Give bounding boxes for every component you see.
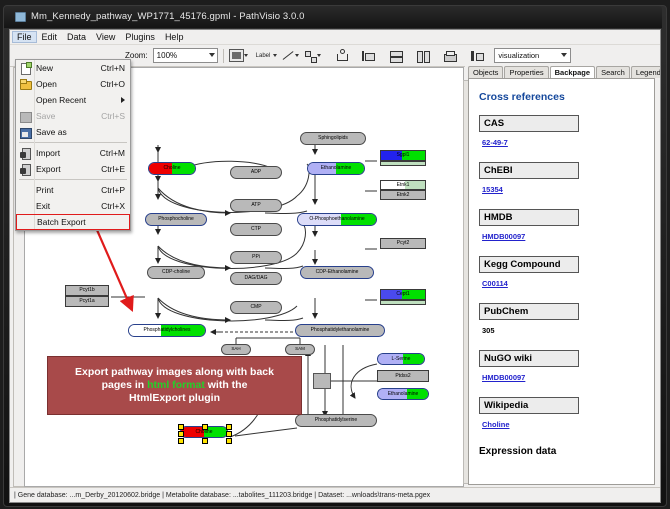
gene-label: Pcyt1a bbox=[79, 299, 94, 304]
node-ppi[interactable]: PPi bbox=[230, 251, 282, 264]
side-panel: Objects Properties Backpage Search Legen… bbox=[465, 63, 657, 487]
label-icon[interactable]: Label bbox=[253, 51, 274, 61]
xref-value-link[interactable]: Choline bbox=[482, 420, 510, 429]
node-label: Sphingolipids bbox=[318, 136, 348, 141]
align-vertical-icon[interactable] bbox=[416, 50, 429, 62]
chevron-down-icon[interactable] bbox=[295, 54, 299, 57]
tab-search[interactable]: Search bbox=[596, 66, 630, 79]
save-disabled-icon bbox=[18, 110, 33, 123]
datanode-tool-group[interactable] bbox=[229, 49, 248, 62]
gene-label: Cept1 bbox=[396, 292, 409, 297]
visualization-value: visualization bbox=[498, 51, 539, 60]
no-icon bbox=[18, 94, 33, 107]
selection-handle[interactable] bbox=[178, 424, 184, 430]
tab-objects[interactable]: Objects bbox=[468, 66, 503, 79]
selection-handle[interactable] bbox=[226, 431, 232, 437]
node-ethanolamine-top[interactable]: Ethanolamine bbox=[307, 162, 365, 175]
no-icon bbox=[18, 184, 33, 197]
node-sam[interactable]: SAM bbox=[285, 344, 315, 355]
tab-legend[interactable]: Legend bbox=[631, 66, 661, 79]
gene-label: Etnk1 bbox=[397, 183, 410, 188]
menu-item-batch-export[interactable]: Batch Export bbox=[16, 214, 130, 230]
node-label: CDP-choline bbox=[162, 270, 190, 275]
callout-line1: Export pathway images along with back bbox=[75, 366, 274, 378]
gene-label: Pcyt2 bbox=[397, 241, 410, 246]
gene-label: Sgpl1 bbox=[397, 153, 410, 158]
status-bar: | Gene database: ...m_Derby_20120602.bri… bbox=[10, 487, 660, 502]
node-label: Ethanolamine bbox=[321, 166, 352, 171]
save-as-icon bbox=[18, 126, 33, 139]
node-phosphatidylcholines[interactable]: Phosphatidylcholines bbox=[128, 324, 206, 337]
menu-item-open[interactable]: Open Ctrl+O bbox=[16, 76, 130, 92]
chevron-down-icon bbox=[209, 53, 215, 57]
menu-item-accel: Ctrl+O bbox=[100, 79, 130, 89]
gene-label: Etnk2 bbox=[397, 193, 410, 198]
gene-pcyt2[interactable]: Pcyt2 bbox=[380, 238, 426, 249]
callout-line2-b: with the bbox=[205, 379, 248, 391]
menu-item-label: New bbox=[36, 63, 101, 73]
xref-name: ChEBI bbox=[479, 162, 579, 179]
menu-item-label: Open Recent bbox=[36, 95, 130, 105]
menu-item-export[interactable]: Export Ctrl+E bbox=[16, 161, 130, 177]
gene-cept1-shadow bbox=[380, 300, 426, 305]
gene-cept1[interactable]: Cept1 bbox=[380, 289, 426, 300]
menu-item-open-recent[interactable]: Open Recent bbox=[16, 92, 130, 108]
node-label: DAG/DAG bbox=[244, 276, 267, 281]
node-label: CDP-Ethanolamine bbox=[316, 270, 359, 275]
node-label: PPi bbox=[252, 255, 260, 260]
menu-item-exit[interactable]: Exit Ctrl+X bbox=[16, 198, 130, 214]
menu-item-accel: Ctrl+S bbox=[101, 111, 130, 121]
xref-value-link[interactable]: C00114 bbox=[482, 279, 508, 288]
xref-name: HMDB bbox=[479, 209, 579, 226]
datanode-icon[interactable] bbox=[229, 49, 244, 62]
node-label: L-Serine bbox=[392, 357, 411, 362]
node-sphingolipids[interactable]: Sphingolipids bbox=[300, 132, 366, 145]
node-label: O-Phosphoethanolamine bbox=[309, 217, 364, 222]
node-cmp[interactable]: CMP bbox=[230, 301, 282, 314]
xref-name: NuGO wiki bbox=[479, 350, 579, 367]
selection-handle[interactable] bbox=[226, 438, 232, 444]
visualization-combo[interactable]: visualization bbox=[494, 48, 571, 63]
menu-item-import[interactable]: Import Ctrl+M bbox=[16, 145, 130, 161]
menu-file[interactable]: File bbox=[12, 31, 37, 43]
align-left-icon[interactable] bbox=[362, 50, 375, 62]
menu-item-accel: Ctrl+P bbox=[101, 185, 130, 195]
xref-cas: CAS 62-49-7 bbox=[479, 115, 654, 150]
screen: Mm_Kennedy_pathway_WP1771_45176.gpml - P… bbox=[0, 0, 670, 509]
xref-wikipedia: Wikipedia Choline bbox=[479, 397, 654, 432]
menu-item-label: Save as bbox=[36, 127, 125, 137]
gene-label: Ptdss2 bbox=[395, 374, 410, 379]
import-icon bbox=[18, 147, 33, 160]
gene-sgpl1[interactable]: Sgpl1 bbox=[380, 150, 426, 161]
xref-nugo-wiki: NuGO wiki HMDB00097 bbox=[479, 350, 654, 385]
node-label: ATP bbox=[251, 203, 260, 208]
menu-edit[interactable]: Edit bbox=[37, 31, 63, 43]
menu-item-label: Open bbox=[36, 79, 100, 89]
node-phosphatidylethanolamine[interactable]: Phosphatidylethanolamine bbox=[295, 324, 385, 337]
file-menu-dropdown[interactable]: New Ctrl+N Open Ctrl+O Open Recent Save … bbox=[15, 59, 131, 231]
xref-name: PubChem bbox=[479, 303, 579, 320]
chevron-down-icon[interactable] bbox=[244, 54, 248, 57]
selection-handle[interactable] bbox=[202, 424, 208, 430]
node-atp[interactable]: ATP bbox=[230, 199, 282, 212]
toolbar-separator bbox=[223, 49, 224, 63]
menu-item-save: Save Ctrl+S bbox=[16, 108, 130, 124]
open-folder-icon bbox=[18, 78, 33, 91]
no-icon bbox=[18, 200, 33, 213]
node-label: Choline bbox=[196, 430, 213, 435]
no-icon bbox=[19, 216, 34, 229]
side-panel-tabs: Objects Properties Backpage Search Legen… bbox=[465, 63, 657, 78]
gene-etnk2[interactable]: Etnk2 bbox=[380, 190, 426, 200]
line-icon[interactable] bbox=[282, 50, 295, 61]
new-document-icon bbox=[18, 62, 33, 75]
node-label: CTP bbox=[251, 227, 261, 232]
node-label: Phosphatidylserine bbox=[315, 418, 357, 423]
node-dag[interactable]: DAG/DAG bbox=[230, 272, 282, 285]
tab-properties[interactable]: Properties bbox=[504, 66, 548, 79]
node-label: Ethanolamine bbox=[388, 392, 419, 397]
node-cdp-ethanolamine[interactable]: CDP-Ethanolamine bbox=[300, 266, 374, 279]
interaction-icon[interactable] bbox=[304, 50, 317, 62]
anchor-icon[interactable] bbox=[335, 49, 348, 62]
callout-line2-highlight: html format bbox=[147, 379, 205, 391]
xref-chebi: ChEBI 15354 bbox=[479, 162, 654, 197]
tab-backpage[interactable]: Backpage bbox=[550, 66, 595, 80]
chevron-down-icon[interactable] bbox=[317, 54, 321, 57]
xref-value-link[interactable]: 15354 bbox=[482, 185, 503, 194]
node-ctp[interactable]: CTP bbox=[230, 223, 282, 236]
zoom-value: 100% bbox=[157, 51, 177, 60]
zoom-combo[interactable]: 100% bbox=[153, 48, 218, 63]
menu-item-print[interactable]: Print Ctrl+P bbox=[16, 182, 130, 198]
selection-handle[interactable] bbox=[202, 438, 208, 444]
menu-help[interactable]: Help bbox=[160, 31, 189, 43]
node-label: Phosphatidylcholines bbox=[144, 328, 191, 333]
menu-item-accel: Ctrl+M bbox=[100, 148, 130, 158]
chevron-right-icon bbox=[121, 97, 125, 103]
chevron-down-icon[interactable] bbox=[273, 54, 277, 57]
gene-pcyt1a[interactable]: Pcyt1a bbox=[65, 296, 109, 307]
gene-sgpl1-shadow bbox=[380, 161, 426, 166]
xref-hmdb: HMDB HMDB00097 bbox=[479, 209, 654, 244]
callout-line3: HtmlExport plugin bbox=[129, 392, 220, 404]
node-label: ADP bbox=[251, 170, 261, 175]
node-label: Choline bbox=[164, 166, 181, 171]
status-text: | Gene database: ...m_Derby_20120602.bri… bbox=[10, 492, 430, 499]
stack-icon[interactable] bbox=[443, 50, 456, 62]
xref-value: 305 bbox=[482, 326, 495, 335]
menu-data[interactable]: Data bbox=[62, 31, 91, 43]
line-tool-group[interactable] bbox=[282, 50, 299, 61]
callout-box: Export pathway images along with back pa… bbox=[47, 356, 302, 415]
window-title: Mm_Kennedy_pathway_WP1771_45176.gpml - P… bbox=[31, 11, 305, 22]
menu-item-label: Save bbox=[36, 111, 101, 121]
expression-data-heading: Expression data bbox=[479, 446, 654, 457]
menu-plugins[interactable]: Plugins bbox=[120, 31, 160, 43]
menu-item-label: Exit bbox=[36, 201, 101, 211]
xref-value-link[interactable]: HMDB00097 bbox=[482, 232, 525, 241]
xref-kegg-compound: Kegg Compound C00114 bbox=[479, 256, 654, 291]
selection-handle[interactable] bbox=[178, 431, 184, 437]
gene-label: Pcyt1b bbox=[79, 288, 94, 293]
node-ethanolamine-bottom[interactable]: Ethanolamine bbox=[377, 388, 429, 400]
export-icon bbox=[18, 163, 33, 176]
callout-text: Export pathway images along with back pa… bbox=[69, 366, 280, 405]
align-horizontal-icon[interactable] bbox=[389, 50, 402, 62]
menu-item-label: Export bbox=[36, 164, 101, 174]
title-bar: Mm_Kennedy_pathway_WP1771_45176.gpml - P… bbox=[4, 6, 662, 28]
node-label: CMP bbox=[250, 305, 261, 310]
xref-value-link[interactable]: HMDB00097 bbox=[482, 373, 525, 382]
node-label: SAM bbox=[295, 347, 305, 352]
menu-item-accel: Ctrl+X bbox=[101, 201, 130, 211]
backpage-content: Cross references CAS 62-49-7 ChEBI 15354… bbox=[468, 78, 655, 485]
xref-name: Wikipedia bbox=[479, 397, 579, 414]
selection-handle[interactable] bbox=[226, 424, 232, 430]
node-label: Phosphocholine bbox=[158, 217, 194, 222]
pathvisio-icon bbox=[14, 10, 26, 22]
menu-item-label: Batch Export bbox=[37, 217, 129, 227]
callout-line2-a: pages in bbox=[102, 379, 148, 391]
xref-name: CAS bbox=[479, 115, 579, 132]
label-tool-group[interactable]: Label bbox=[253, 51, 278, 61]
menu-separator bbox=[19, 179, 127, 180]
node-label: SAH bbox=[231, 347, 240, 352]
menu-item-accel: Ctrl+N bbox=[101, 63, 130, 73]
menu-view[interactable]: View bbox=[91, 31, 120, 43]
node-l-serine[interactable]: L-Serine bbox=[377, 353, 425, 365]
gene-pcyt1b[interactable]: Pcyt1b bbox=[65, 285, 109, 296]
menu-item-label: Print bbox=[36, 185, 101, 195]
node-sah[interactable]: SAH bbox=[221, 344, 251, 355]
xref-pubchem: PubChem 305 bbox=[479, 303, 654, 338]
node-adp[interactable]: ADP bbox=[230, 166, 282, 179]
menu-item-accel: Ctrl+E bbox=[101, 164, 130, 174]
node-choline-top[interactable]: Choline bbox=[148, 162, 196, 175]
chevron-down-icon bbox=[561, 53, 567, 57]
menu-item-new[interactable]: New Ctrl+N bbox=[16, 60, 130, 76]
xref-value-link[interactable]: 62-49-7 bbox=[482, 138, 508, 147]
xref-name: Kegg Compound bbox=[479, 256, 579, 273]
node-o-phosphoethanolamine[interactable]: O-Phosphoethanolamine bbox=[297, 213, 377, 226]
menu-item-save-as[interactable]: Save as bbox=[16, 124, 130, 140]
menu-item-label: Import bbox=[36, 148, 100, 158]
application-client-area: File Edit Data View Plugins Help Zoom: 1… bbox=[9, 29, 661, 503]
menu-bar: File Edit Data View Plugins Help bbox=[10, 30, 661, 45]
menu-separator bbox=[19, 142, 127, 143]
gene-ptdss2[interactable]: Ptdss2 bbox=[377, 370, 429, 382]
node-label: Phosphatidylethanolamine bbox=[311, 328, 370, 333]
align-right-icon[interactable] bbox=[470, 50, 483, 62]
node-phosphocholine[interactable]: Phosphocholine bbox=[145, 213, 207, 226]
node-cdp-choline[interactable]: CDP-choline bbox=[147, 266, 205, 279]
selection-handle[interactable] bbox=[178, 438, 184, 444]
pemt-anchor-box bbox=[313, 373, 331, 389]
interaction-tool-group[interactable] bbox=[304, 50, 321, 62]
gene-etnk1[interactable]: Etnk1 bbox=[380, 180, 426, 190]
node-phosphatidylserine[interactable]: Phosphatidylserine bbox=[295, 414, 377, 427]
cross-references-heading: Cross references bbox=[469, 79, 654, 103]
